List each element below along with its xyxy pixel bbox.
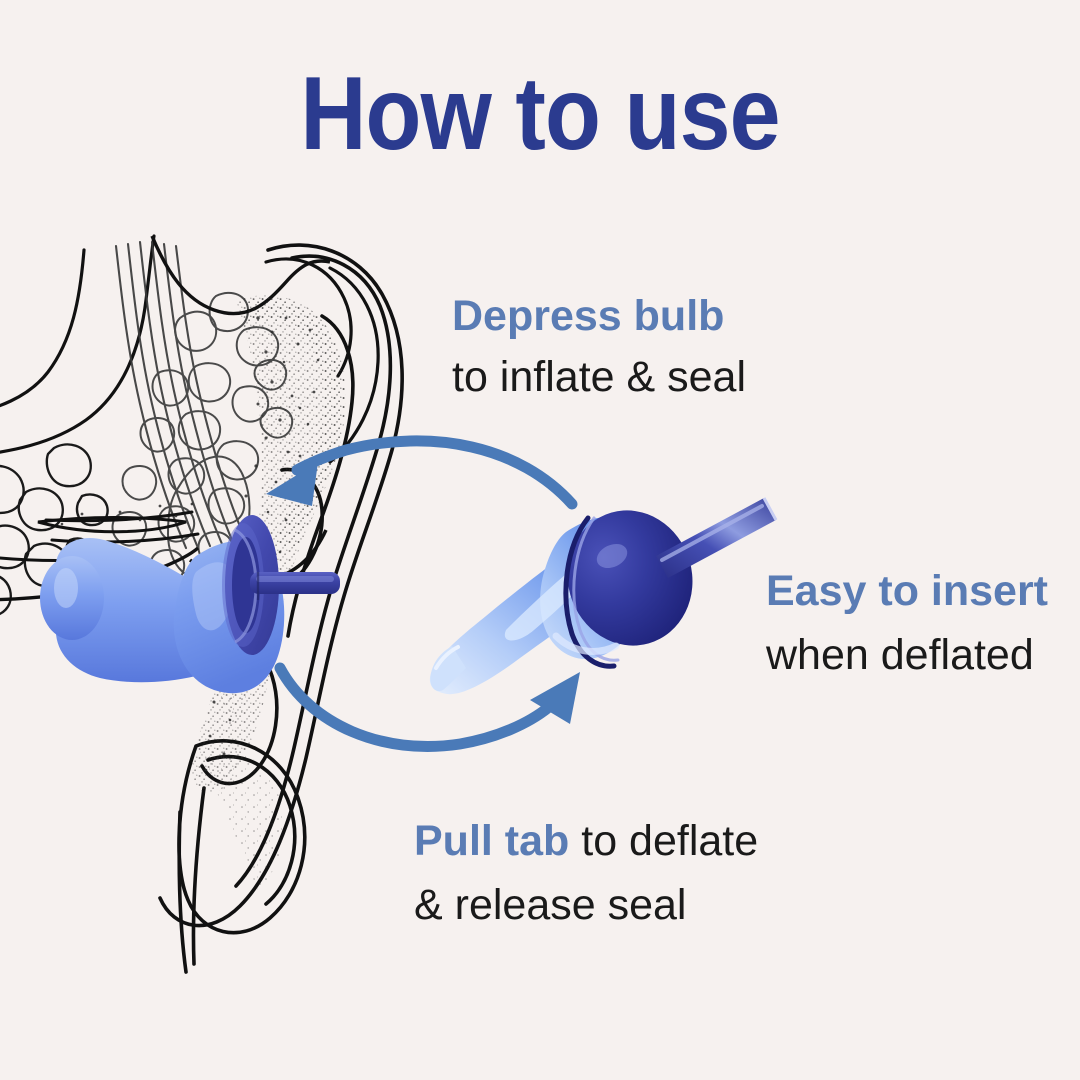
callout-easy-lead: Easy to insert <box>766 560 1048 624</box>
deflated-ear-plug <box>430 496 776 695</box>
callout-pull-rest-second: & release seal <box>414 874 758 938</box>
callout-easy-rest: when deflated <box>766 624 1048 688</box>
callout-pull-tab: Pull tab to deflate & release seal <box>414 810 758 937</box>
callout-easy-to-insert: Easy to insert when deflated <box>766 560 1048 687</box>
callout-pull-rest-inline: to deflate <box>569 817 758 865</box>
callout-depress-bulb: Depress bulb to inflate & seal <box>452 286 746 409</box>
callout-pull-lead: Pull tab <box>414 817 569 865</box>
callout-depress-rest: to inflate & seal <box>452 347 746 408</box>
page-title: How to use <box>65 62 1015 166</box>
callout-pull-line1: Pull tab to deflate <box>414 810 758 874</box>
callout-depress-lead: Depress bulb <box>452 286 746 347</box>
infographic-root: How to use Depress bulb to inflate & sea… <box>0 0 1080 1080</box>
